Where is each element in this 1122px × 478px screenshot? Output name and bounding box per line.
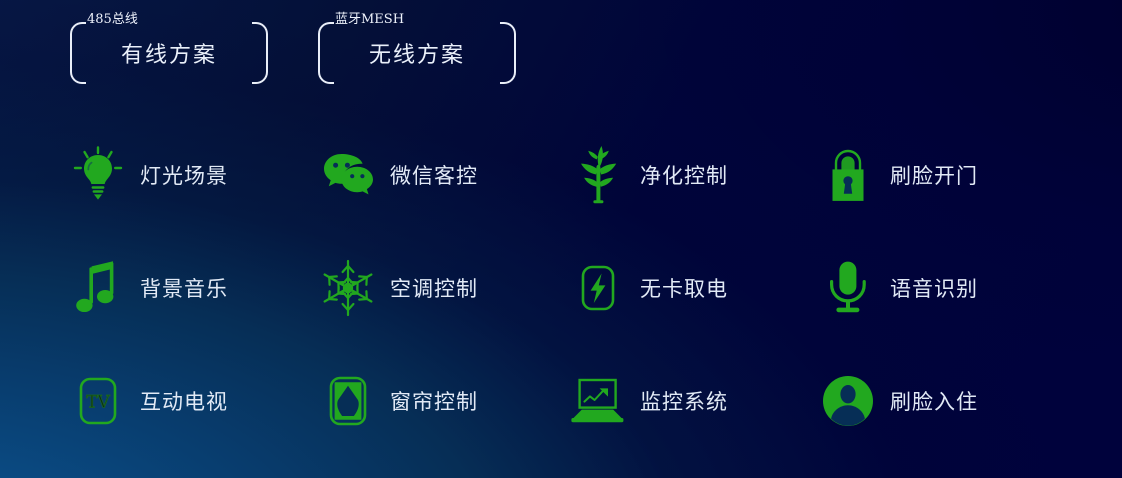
laptop-chart-icon xyxy=(570,371,626,431)
person-circle-icon xyxy=(820,371,876,431)
feature-label: 刷脸开门 xyxy=(890,160,978,190)
wechat-icon xyxy=(320,145,376,205)
snowflake-icon xyxy=(320,258,376,318)
feature-item-curtain-control[interactable]: 窗帘控制 xyxy=(320,344,570,457)
lightning-bolt-icon xyxy=(570,258,626,318)
feature-label: 互动电视 xyxy=(140,386,228,416)
feature-item-wechat-control[interactable]: 微信客控 xyxy=(320,118,570,231)
tv-icon-text: TV xyxy=(86,392,110,412)
feature-label: 空调控制 xyxy=(390,273,478,303)
padlock-icon xyxy=(820,145,876,205)
music-note-icon xyxy=(70,258,126,318)
scheme-card-wireless[interactable]: 蓝牙MESH 无线方案 xyxy=(318,22,516,84)
feature-label: 灯光场景 xyxy=(140,160,228,190)
feature-item-cardless-power[interactable]: 无卡取电 xyxy=(570,231,820,344)
feature-item-lighting-scene[interactable]: 灯光场景 xyxy=(70,118,320,231)
smart-hotel-solution-panel: 485总线 有线方案 蓝牙MESH 无线方案 xyxy=(0,0,1122,478)
scheme-title-wired: 有线方案 xyxy=(70,37,268,69)
feature-label: 无卡取电 xyxy=(640,273,728,303)
feature-item-face-checkin[interactable]: 刷脸入住 xyxy=(820,344,1070,457)
feature-label: 语音识别 xyxy=(890,273,978,303)
feature-item-face-unlock-door[interactable]: 刷脸开门 xyxy=(820,118,1070,231)
scheme-title-wireless: 无线方案 xyxy=(318,37,516,69)
feature-item-purification-control[interactable]: 净化控制 xyxy=(570,118,820,231)
feature-item-air-conditioner-control[interactable]: 空调控制 xyxy=(320,231,570,344)
feature-label: 微信客控 xyxy=(390,160,478,190)
feature-item-background-music[interactable]: 背景音乐 xyxy=(70,231,320,344)
plant-icon xyxy=(570,145,626,205)
feature-label: 刷脸入住 xyxy=(890,386,978,416)
feature-label: 净化控制 xyxy=(640,160,728,190)
feature-label: 背景音乐 xyxy=(140,273,228,303)
feature-item-interactive-tv[interactable]: TV 互动电视 xyxy=(70,344,320,457)
scheme-card-wired[interactable]: 485总线 有线方案 xyxy=(70,22,268,84)
feature-item-voice-recognition[interactable]: 语音识别 xyxy=(820,231,1070,344)
feature-label: 窗帘控制 xyxy=(390,386,478,416)
lightbulb-icon xyxy=(70,145,126,205)
scheme-tag-wireless: 蓝牙MESH xyxy=(332,8,407,27)
feature-label: 监控系统 xyxy=(640,386,728,416)
curtain-icon xyxy=(320,371,376,431)
scheme-tag-wired: 485总线 xyxy=(84,8,141,27)
feature-grid: 灯光场景 微信客控 xyxy=(70,118,1070,457)
microphone-icon xyxy=(820,258,876,318)
feature-item-monitoring-system[interactable]: 监控系统 xyxy=(570,344,820,457)
tv-icon: TV xyxy=(70,371,126,431)
